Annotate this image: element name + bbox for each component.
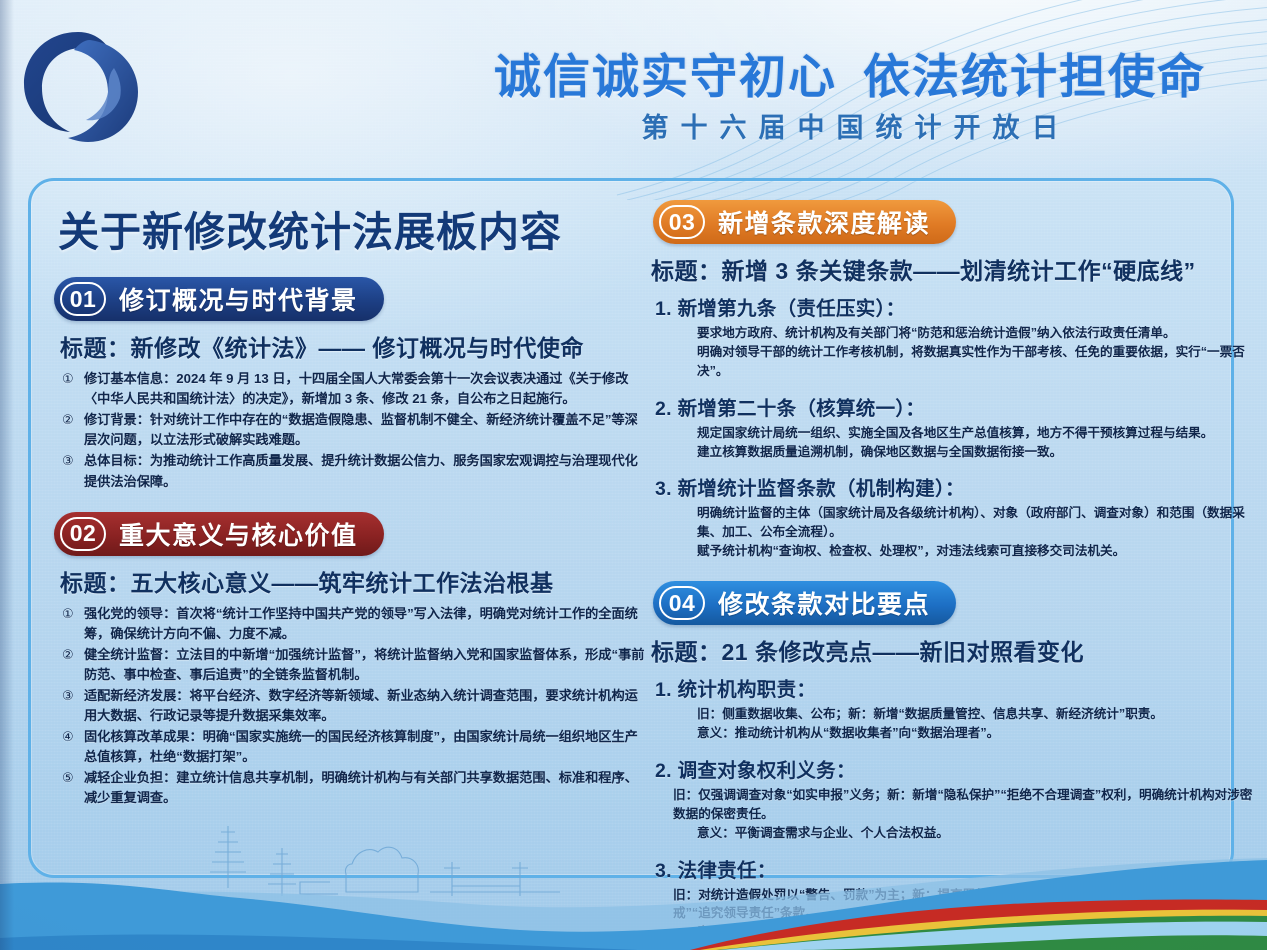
section-02-title: 标题：五大核心意义——筑牢统计工作法治根基 <box>60 564 646 598</box>
block-line: 要求地方政府、统计机构及有关部门将“防范和惩治统计造假”纳入依法行政责任清单。 <box>697 324 1260 343</box>
list-item: ①强化党的领导：首次将“统计工作坚持中国共产党的领导”写入法律，明确党对统计工作… <box>62 604 646 644</box>
list-marker: ⑤ <box>62 768 74 788</box>
list-item-text: 健全统计监督：立法目的中新增“加强统计监督”，将统计监督纳入党和国家监督体系，形… <box>84 647 644 682</box>
section-04-number: 04 <box>659 586 705 620</box>
list-item: ④固化核算改革成果：明确“国家实施统一的国民经济核算制度”，由国家统计局统一组织… <box>62 727 646 767</box>
block-line: 意义：以“重惩戒”倒逼“真数据”。 <box>697 923 1260 942</box>
left-column: 关于新修改统计法展板内容 01 修订概况与时代背景 标题：新修改《统计法》—— … <box>46 196 646 809</box>
section-03-badge: 03 新增条款深度解读 <box>653 200 956 244</box>
china-statistics-logo-icon <box>16 22 156 152</box>
list-item: ②修订背景：针对统计工作中存在的“数据造假隐患、监督机制不健全、新经济统计覆盖不… <box>62 410 646 450</box>
section-04-block-2: 2. 调查对象权利义务： 旧：仅强调调查对象“如实申报”义务；新：新增“隐私保护… <box>655 754 1260 843</box>
section-01-badge-row: 01 修订概况与时代背景 <box>54 277 646 321</box>
section-02-badge: 02 重大意义与核心价值 <box>54 512 384 556</box>
header-title-block: 诚信诚实守初心依法统计担使命 第十六届中国统计开放日 <box>455 52 1245 145</box>
section-02: 02 重大意义与核心价值 标题：五大核心意义——筑牢统计工作法治根基 ①强化党的… <box>46 512 646 809</box>
section-04-badge-row: 04 修改条款对比要点 <box>653 581 1260 625</box>
section-01-number: 01 <box>60 282 106 316</box>
section-04-badge-label: 修改条款对比要点 <box>718 585 930 621</box>
header-subtitle: 第十六届中国统计开放日 <box>455 106 1245 145</box>
block-line: 建立核算数据质量追溯机制，确保地区数据与全国数据衔接一致。 <box>697 443 1260 462</box>
block-line: 规定国家统计局统一组织、实施全国及各地区生产总值核算，地方不得干预核算过程与结果… <box>697 424 1260 443</box>
section-04-block-1: 1. 统计机构职责： 旧：侧重数据收集、公布；新：新增“数据质量管控、信息共享、… <box>655 673 1260 743</box>
list-item: ①修订基本信息：2024 年 9 月 13 日，十四届全国人大常委会第十一次会议… <box>62 369 646 409</box>
block-line: 明确对领导干部的统计工作考核机制，将数据真实性作为干部考核、任免的重要依据，实行… <box>697 343 1260 381</box>
section-01-item-list: ①修订基本信息：2024 年 9 月 13 日，十四届全国人大常委会第十一次会议… <box>62 369 646 491</box>
section-04-title: 标题：21 条修改亮点——新旧对照看变化 <box>651 633 1260 667</box>
block-line: 赋予统计机构“查询权、检查权、处理权”，对违法线索可直接移交司法机关。 <box>697 542 1260 561</box>
list-item-text: 适配新经济发展：将平台经济、数字经济等新领域、新业态纳入统计调查范围，要求统计机… <box>84 688 638 723</box>
section-03-badge-row: 03 新增条款深度解读 <box>653 200 1260 244</box>
header-main-title: 诚信诚实守初心依法统计担使命 <box>455 52 1245 102</box>
wave-front <box>0 935 640 950</box>
list-marker: ③ <box>62 686 74 706</box>
list-item: ②健全统计监督：立法目的中新增“加强统计监督”，将统计监督纳入党和国家监督体系，… <box>62 645 646 685</box>
list-item-text: 减轻企业负担：建立统计信息共享机制，明确统计机构与有关部门共享数据范围、标准和程… <box>84 770 638 805</box>
section-03-badge-label: 新增条款深度解读 <box>718 204 930 240</box>
section-01-title: 标题：新修改《统计法》—— 修订概况与时代使命 <box>60 329 646 363</box>
list-item: ⑤减轻企业负担：建立统计信息共享机制，明确统计机构与有关部门共享数据范围、标准和… <box>62 768 646 808</box>
section-03-block-3: 3. 新增统计监督条款（机制构建）： 明确统计监督的主体（国家统计局及各级统计机… <box>655 472 1260 561</box>
block-line: 旧：侧重数据收集、公布；新：新增“数据质量管控、信息共享、新经济统计”职责。 <box>697 705 1260 724</box>
board-title: 关于新修改统计法展板内容 <box>58 208 646 257</box>
list-item: ③总体目标：为推动统计工作高质量发展、提升统计数据公信力、服务国家宏观调控与治理… <box>62 451 646 491</box>
list-item-text: 修订基本信息：2024 年 9 月 13 日，十四届全国人大常委会第十一次会议表… <box>84 371 628 406</box>
list-item-text: 强化党的领导：首次将“统计工作坚持中国共产党的领导”写入法律，明确党对统计工作的… <box>84 606 638 641</box>
section-04: 04 修改条款对比要点 标题：21 条修改亮点——新旧对照看变化 1. 统计机构… <box>645 581 1260 942</box>
section-02-item-list: ①强化党的领导：首次将“统计工作坚持中国共产党的领导”写入法律，明确党对统计工作… <box>62 604 646 809</box>
section-03-title: 标题：新增 3 条关键条款——划清统计工作“硬底线” <box>651 252 1260 286</box>
section-01-badge-label: 修订概况与时代背景 <box>119 281 358 317</box>
section-02-badge-label: 重大意义与核心价值 <box>119 516 358 552</box>
right-column: 03 新增条款深度解读 标题：新增 3 条关键条款——划清统计工作“硬底线” 1… <box>645 196 1260 950</box>
poster-backdrop: 诚信诚实守初心依法统计担使命 第十六届中国统计开放日 关于新修改统计法展板内容 … <box>0 0 1267 950</box>
section-04-badge: 04 修改条款对比要点 <box>653 581 956 625</box>
block-line: 明确统计监督的主体（国家统计局及各级统计机构）、对象（政府部门、调查对象）和范围… <box>697 504 1260 542</box>
section-01-badge: 01 修订概况与时代背景 <box>54 277 384 321</box>
block-heading: 1. 统计机构职责： <box>655 673 1260 702</box>
block-line: 旧：对统计造假处罚以“警告、罚款”为主；新：提高罚款额度（企业最高罚 50 万元… <box>673 886 1260 924</box>
section-01: 01 修订概况与时代背景 标题：新修改《统计法》—— 修订概况与时代使命 ①修订… <box>46 277 646 491</box>
list-item-text: 固化核算改革成果：明确“国家实施统一的国民经济核算制度”，由国家统计局统一组织地… <box>84 729 638 764</box>
block-line: 意义：推动统计机构从“数据收集者”向“数据治理者”。 <box>697 724 1260 743</box>
section-02-badge-row: 02 重大意义与核心价值 <box>54 512 646 556</box>
poster-header: 诚信诚实守初心依法统计担使命 第十六届中国统计开放日 <box>0 0 1267 178</box>
header-main-title-part2: 依法统计担使命 <box>863 50 1206 103</box>
section-03-block-1: 1. 新增第九条（责任压实）： 要求地方政府、统计机构及有关部门将“防范和惩治统… <box>655 292 1260 381</box>
block-heading: 1. 新增第九条（责任压实）： <box>655 292 1260 321</box>
block-heading: 3. 新增统计监督条款（机制构建）： <box>655 472 1260 501</box>
section-03: 03 新增条款深度解读 标题：新增 3 条关键条款——划清统计工作“硬底线” 1… <box>645 200 1260 561</box>
header-main-title-part1: 诚信诚实守初心 <box>494 50 837 103</box>
section-04-block-3: 3. 法律责任： 旧：对统计造假处罚以“警告、罚款”为主；新：提高罚款额度（企业… <box>655 854 1260 943</box>
list-marker: ① <box>62 604 74 624</box>
list-marker: ② <box>62 410 74 430</box>
block-line: 旧：仅强调调查对象“如实申报”义务；新：新增“隐私保护”“拒绝不合理调查”权利，… <box>673 786 1260 824</box>
list-item-text: 总体目标：为推动统计工作高质量发展、提升统计数据公信力、服务国家宏观调控与治理现… <box>84 453 638 488</box>
block-heading: 2. 新增第二十条（核算统一）： <box>655 392 1260 421</box>
section-02-number: 02 <box>60 517 106 551</box>
list-marker: ① <box>62 369 74 389</box>
list-marker: ③ <box>62 451 74 471</box>
list-marker: ④ <box>62 727 74 747</box>
list-item: ③适配新经济发展：将平台经济、数字经济等新领域、新业态纳入统计调查范围，要求统计… <box>62 686 646 726</box>
section-03-number: 03 <box>659 205 705 239</box>
list-marker: ② <box>62 645 74 665</box>
block-heading: 2. 调查对象权利义务： <box>655 754 1260 783</box>
list-item-text: 修订背景：针对统计工作中存在的“数据造假隐患、监督机制不健全、新经济统计覆盖不足… <box>84 412 638 447</box>
block-line: 意义：平衡调查需求与企业、个人合法权益。 <box>697 824 1260 843</box>
block-heading: 3. 法律责任： <box>655 854 1260 883</box>
section-03-block-2: 2. 新增第二十条（核算统一）： 规定国家统计局统一组织、实施全国及各地区生产总… <box>655 392 1260 462</box>
